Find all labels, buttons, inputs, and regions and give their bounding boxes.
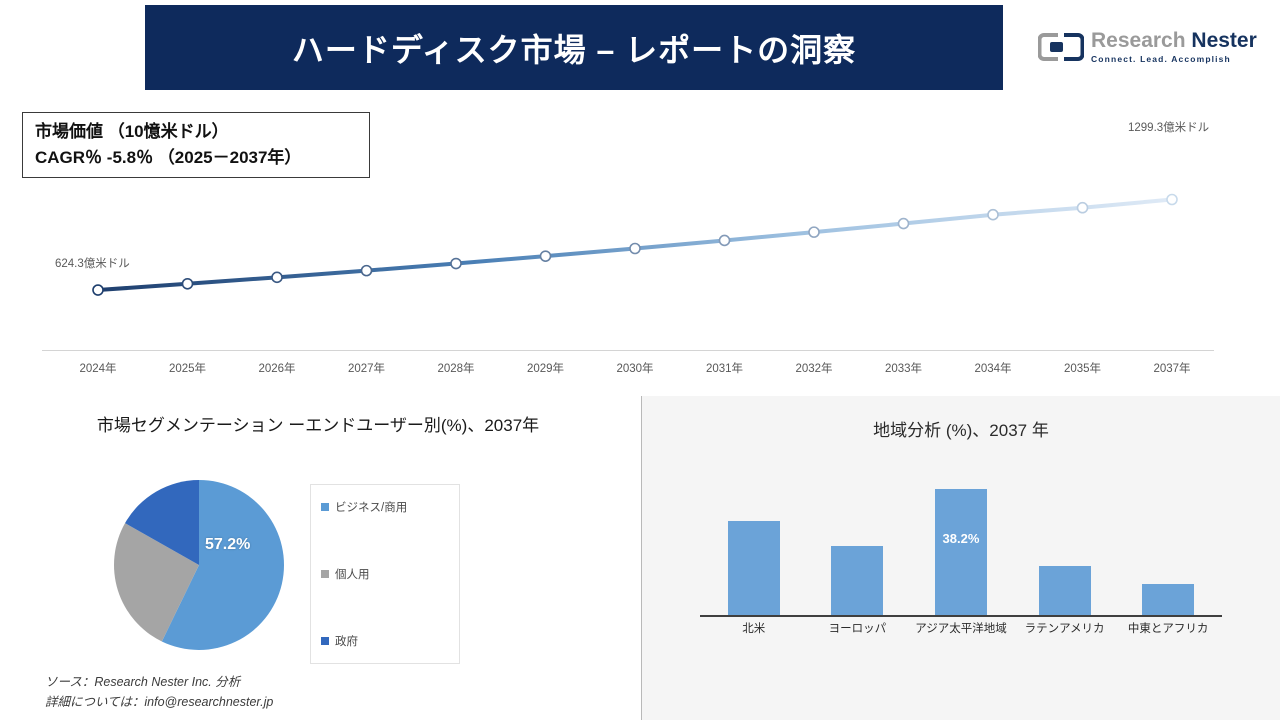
regional-bar [1142, 584, 1194, 616]
source-line-1: ソース：Research Nester Inc. 分析 [45, 672, 273, 692]
line-data-point [988, 210, 998, 220]
regional-bar-baseline [700, 615, 1222, 617]
bar-category-label: 中東とアフリカ [1122, 620, 1214, 636]
legend-label-business: ビジネス/商用 [335, 499, 407, 515]
brand-logo: Research Nester Connect. Lead. Accomplis… [1038, 22, 1266, 72]
segmentation-panel: 市場セグメンテーション ーエンドユーザー別(%)、2037年 ビジネス/商用 個… [0, 396, 636, 720]
logo-name-research: Research [1091, 29, 1186, 52]
bar-slot [811, 466, 903, 616]
pie-data-label-business: 57.2% [205, 536, 250, 554]
regional-bar [728, 521, 780, 616]
x-tick-label: 2033年 [885, 360, 922, 376]
line-data-point [362, 266, 372, 276]
bar-slot [1122, 466, 1214, 616]
regional-bar [1039, 566, 1091, 616]
regional-analysis-title: 地域分析 (%)、2037 年 [642, 416, 1280, 441]
legend-swatch-business [321, 503, 329, 511]
x-tick-label: 2037年 [1153, 360, 1190, 376]
line-data-point [451, 259, 461, 269]
x-tick-label: 2028年 [437, 360, 474, 376]
line-data-point [541, 251, 551, 261]
regional-bar: 38.2% [935, 489, 987, 616]
legend-label-personal: 個人用 [335, 566, 370, 582]
x-tick-label: 2030年 [616, 360, 653, 376]
line-chart-x-tick-labels: 2024年2025年2026年2027年2028年2029年2030年2031年… [42, 360, 1214, 380]
x-tick-label: 2034年 [974, 360, 1011, 376]
bar-slot: 38.2% [915, 466, 1007, 616]
legend-swatch-personal [321, 570, 329, 578]
bar-category-label: ラテンアメリカ [1019, 620, 1111, 636]
bar-category-label: アジア太平洋地域 [915, 620, 1007, 636]
segmentation-pie-chart [113, 479, 285, 651]
x-tick-label: 2026年 [258, 360, 295, 376]
bar-category-label: ヨーロッパ [811, 620, 903, 636]
regional-analysis-panel: 地域分析 (%)、2037 年 38.2% 北米ヨーロッパアジア太平洋地域ラテン… [641, 396, 1280, 720]
legend-item-personal[interactable]: 個人用 [321, 566, 449, 582]
line-start-value-label: 624.3億米ドル [55, 255, 130, 271]
legend-item-government[interactable]: 政府 [321, 633, 449, 649]
logo-tagline: Connect. Lead. Accomplish [1091, 55, 1257, 64]
x-tick-label: 2032年 [795, 360, 832, 376]
linked-brackets-icon [1038, 32, 1084, 62]
line-chart-x-axis [42, 350, 1214, 351]
legend-item-business[interactable]: ビジネス/商用 [321, 499, 449, 515]
line-data-point [1078, 203, 1088, 213]
header-banner: ハードディスク市場 – レポートの洞察 [145, 5, 1003, 90]
logo-name-nester: Nester [1191, 29, 1256, 52]
legend-swatch-government [321, 637, 329, 645]
line-data-point [183, 279, 193, 289]
source-line-2: 詳細については：info@researchnester.jp [45, 692, 273, 712]
line-data-point [272, 272, 282, 282]
x-tick-label: 2029年 [527, 360, 564, 376]
regional-bar-category-labels: 北米ヨーロッパアジア太平洋地域ラテンアメリカ中東とアフリカ [702, 620, 1220, 636]
page-title: ハードディスク市場 – レポートの洞察 [292, 25, 856, 71]
x-tick-label: 2024年 [79, 360, 116, 376]
segmentation-title: 市場セグメンテーション ーエンドユーザー別(%)、2037年 [18, 414, 618, 439]
bar-slot [708, 466, 800, 616]
legend-label-government: 政府 [335, 633, 358, 649]
x-tick-label: 2035年 [1064, 360, 1101, 376]
line-data-point [93, 285, 103, 295]
line-data-point [899, 219, 909, 229]
bar-slot [1019, 466, 1111, 616]
bar-data-label: 38.2% [935, 531, 987, 546]
line-data-point [1167, 195, 1177, 205]
line-data-point [720, 235, 730, 245]
x-tick-label: 2031年 [706, 360, 743, 376]
line-data-point [809, 227, 819, 237]
segmentation-legend: ビジネス/商用 個人用 政府 [310, 484, 460, 664]
x-tick-label: 2025年 [169, 360, 206, 376]
line-data-point [630, 243, 640, 253]
regional-bar [831, 546, 883, 616]
bar-category-label: 北米 [708, 620, 800, 636]
market-value-line-chart [0, 100, 1280, 390]
x-tick-label: 2027年 [348, 360, 385, 376]
regional-bar-chart: 38.2% [702, 466, 1220, 616]
source-note: ソース：Research Nester Inc. 分析 詳細については：info… [45, 672, 273, 712]
line-end-value-label: 1299.3億米ドル [1128, 119, 1209, 135]
